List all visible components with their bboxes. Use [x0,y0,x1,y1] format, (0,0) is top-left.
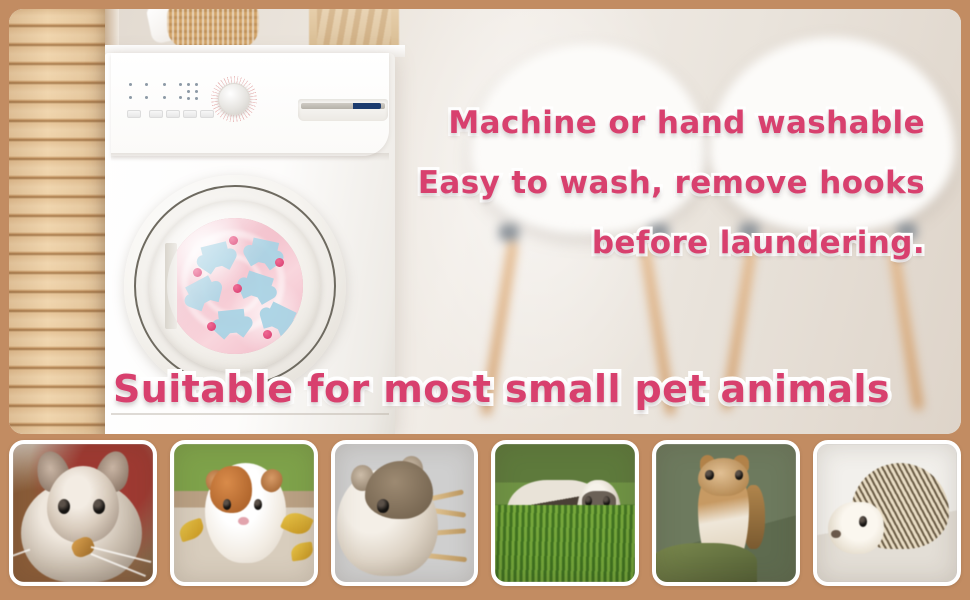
pom-dot [233,284,242,293]
pom-dot [207,322,216,331]
program-button[interactable] [200,110,214,118]
pet-photo-chinchilla[interactable] [9,440,157,586]
headline: Suitable for most small pet animals [113,367,890,411]
panel-indicator-dot [187,97,190,100]
woven-basket [167,9,259,49]
pet-photo-chipmunk[interactable] [652,440,800,586]
feature-line-2: Easy to wash, remove hooks [418,165,925,201]
panel-indicator-dot [187,83,190,86]
chair-leg [888,239,924,410]
door-latch [165,243,177,329]
panel-indicator-dot [145,83,148,86]
panel-indicator-dot [195,90,198,93]
program-button[interactable] [183,110,197,118]
door-window[interactable] [167,218,303,354]
panel-indicator-dot [145,96,148,99]
panel-indicator-dot [129,83,132,86]
heart-motif [218,309,246,335]
pom-dot [275,258,284,267]
pet-photo-hamster[interactable] [331,440,479,586]
panel-indicator-dot [195,97,198,100]
product-banner: Machine or hand washable Easy to wash, r… [0,0,970,600]
pom-dot [193,268,202,277]
panel-indicator-dot [195,83,198,86]
pet-photo-guinea-pig[interactable] [170,440,318,586]
feature-line-3: before laundering. [592,225,925,261]
heart-motif [201,241,232,270]
panel-indicator-dot [163,83,166,86]
wood-slat-wall [9,9,105,434]
hero-scene: Machine or hand washable Easy to wash, r… [9,9,961,434]
program-button[interactable] [127,110,141,118]
feature-line-1: Machine or hand washable [448,105,925,141]
pet-photo-hedgehog[interactable] [813,440,961,586]
program-dial[interactable] [218,83,250,115]
program-button[interactable] [166,110,180,118]
wooden-box [309,9,399,49]
pom-dot [229,236,238,245]
panel-indicator-dot [129,96,132,99]
panel-shadow [111,153,389,161]
drawer-accent [353,103,381,109]
chair-leg-cap [499,224,519,241]
washer-seam [111,413,389,415]
panel-indicator-dot [187,90,190,93]
panel-indicator-dot [179,96,182,99]
panel-indicator-dot [179,83,182,86]
panel-indicator-dot [163,96,166,99]
program-button[interactable] [149,110,163,118]
pet-photo-strip [9,440,961,586]
pet-photo-ferret[interactable] [491,440,639,586]
pom-dot [263,330,272,339]
